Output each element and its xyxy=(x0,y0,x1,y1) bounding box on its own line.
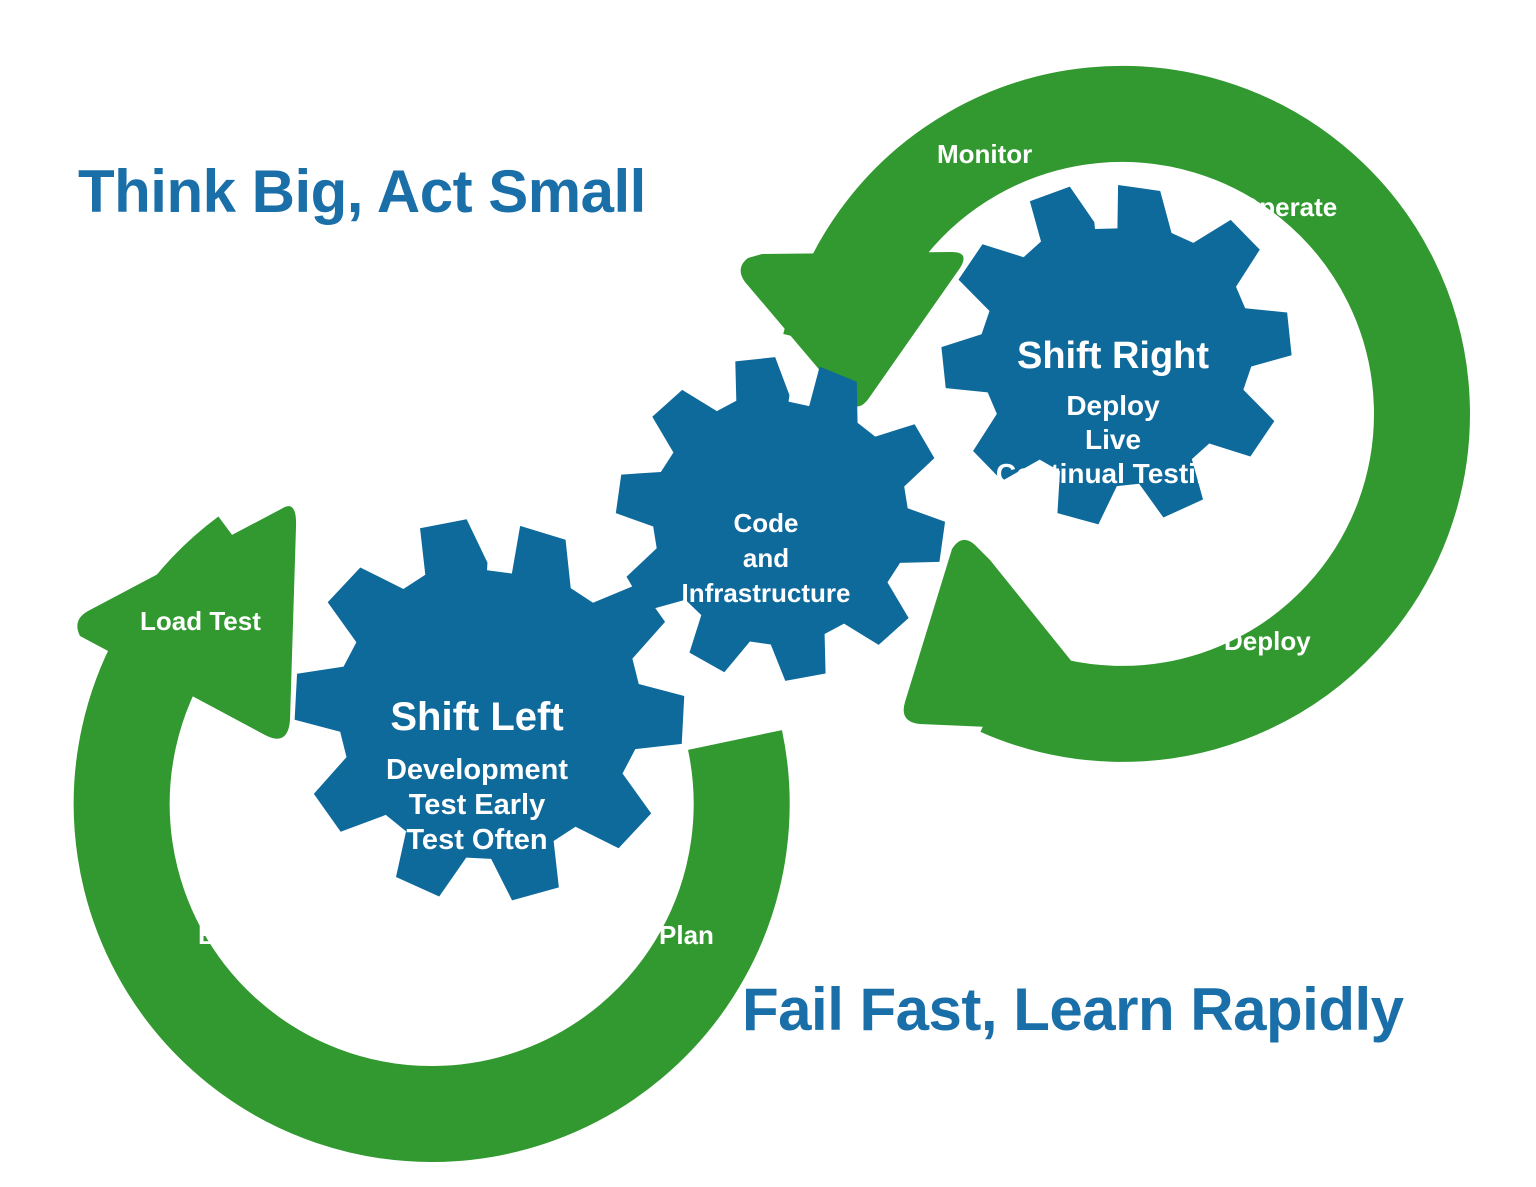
gear-code-line-3: Infrastructure xyxy=(681,578,850,608)
stage-label-monitor: Monitor xyxy=(937,139,1032,169)
text-layer: Think Big, Act Small Fail Fast, Learn Ra… xyxy=(0,0,1536,1187)
stage-label-load-test: Load Test xyxy=(140,606,261,636)
gear-shift-left-line-1: Development xyxy=(386,754,568,786)
gear-shift-left-title: Shift Left xyxy=(390,695,563,739)
gear-shift-left-line-3: Test Often xyxy=(406,824,547,856)
headline-think-big: Think Big, Act Small xyxy=(78,158,646,225)
stage-label-plan: Plan xyxy=(659,920,714,950)
stage-label-operate: Operate xyxy=(1239,192,1337,222)
headline-fail-fast: Fail Fast, Learn Rapidly xyxy=(742,976,1405,1043)
stage-label-build: Build xyxy=(198,920,263,950)
gear-code-line-2: and xyxy=(743,543,789,573)
gear-code-line-1: Code xyxy=(734,508,799,538)
stage-label-code: Code xyxy=(442,1021,507,1051)
devops-infinity-diagram: Think Big, Act Small Fail Fast, Learn Ra… xyxy=(0,0,1536,1187)
gear-shift-left-line-2: Test Early xyxy=(409,789,545,821)
gear-shift-right-title: Shift Right xyxy=(1017,335,1209,377)
gear-shift-right-line-2: Live xyxy=(1085,424,1141,455)
stage-label-deploy: Deploy xyxy=(1224,626,1311,656)
gear-shift-right-line-1: Deploy xyxy=(1066,390,1160,421)
gear-shift-right-line-3: Continual Testing xyxy=(996,458,1230,489)
